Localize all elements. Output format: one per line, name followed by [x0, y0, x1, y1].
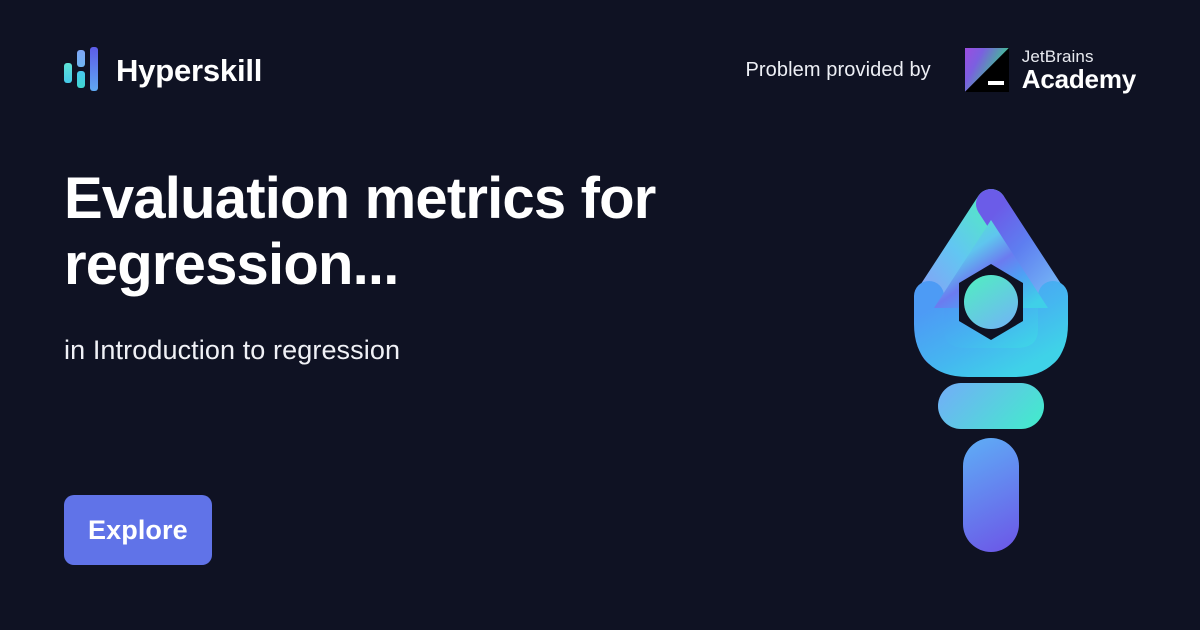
jetbrains-dash-mark [988, 81, 1004, 85]
logo-bar-left [64, 63, 72, 83]
main-content: Evaluation metrics for regression... in … [64, 166, 724, 366]
academy-label: Academy [1022, 66, 1136, 92]
explore-button[interactable]: Explore [64, 495, 212, 565]
page-header: Hyperskill Problem provided by JetBrains… [0, 0, 1200, 140]
page-subtitle: in Introduction to regression [64, 335, 724, 366]
jetbrains-label: JetBrains [1022, 48, 1136, 65]
jetbrains-gradient-triangle [965, 48, 1009, 92]
jetbrains-square-icon [965, 48, 1009, 92]
provided-by-block: Problem provided by JetBrains Academy [745, 48, 1136, 92]
logo-bar-middle-top [77, 50, 85, 67]
hyperskill-brand[interactable]: Hyperskill [64, 47, 262, 93]
jetbrains-academy-logo[interactable]: JetBrains Academy [965, 48, 1136, 92]
logo-bar-right [90, 47, 98, 91]
hyperskill-wordmark: Hyperskill [116, 55, 262, 86]
logo-bar-middle-bottom [77, 71, 85, 88]
provided-by-label: Problem provided by [745, 59, 930, 82]
horizontal-bar [938, 383, 1044, 429]
page-title: Evaluation metrics for regression... [64, 166, 704, 297]
logo-inner-circle [964, 275, 1018, 329]
academy-torch-illustration [898, 180, 1084, 560]
jetbrains-academy-wordmark: JetBrains Academy [1022, 48, 1136, 92]
hyperskill-bars-icon [64, 47, 98, 93]
vertical-bar [963, 438, 1019, 552]
